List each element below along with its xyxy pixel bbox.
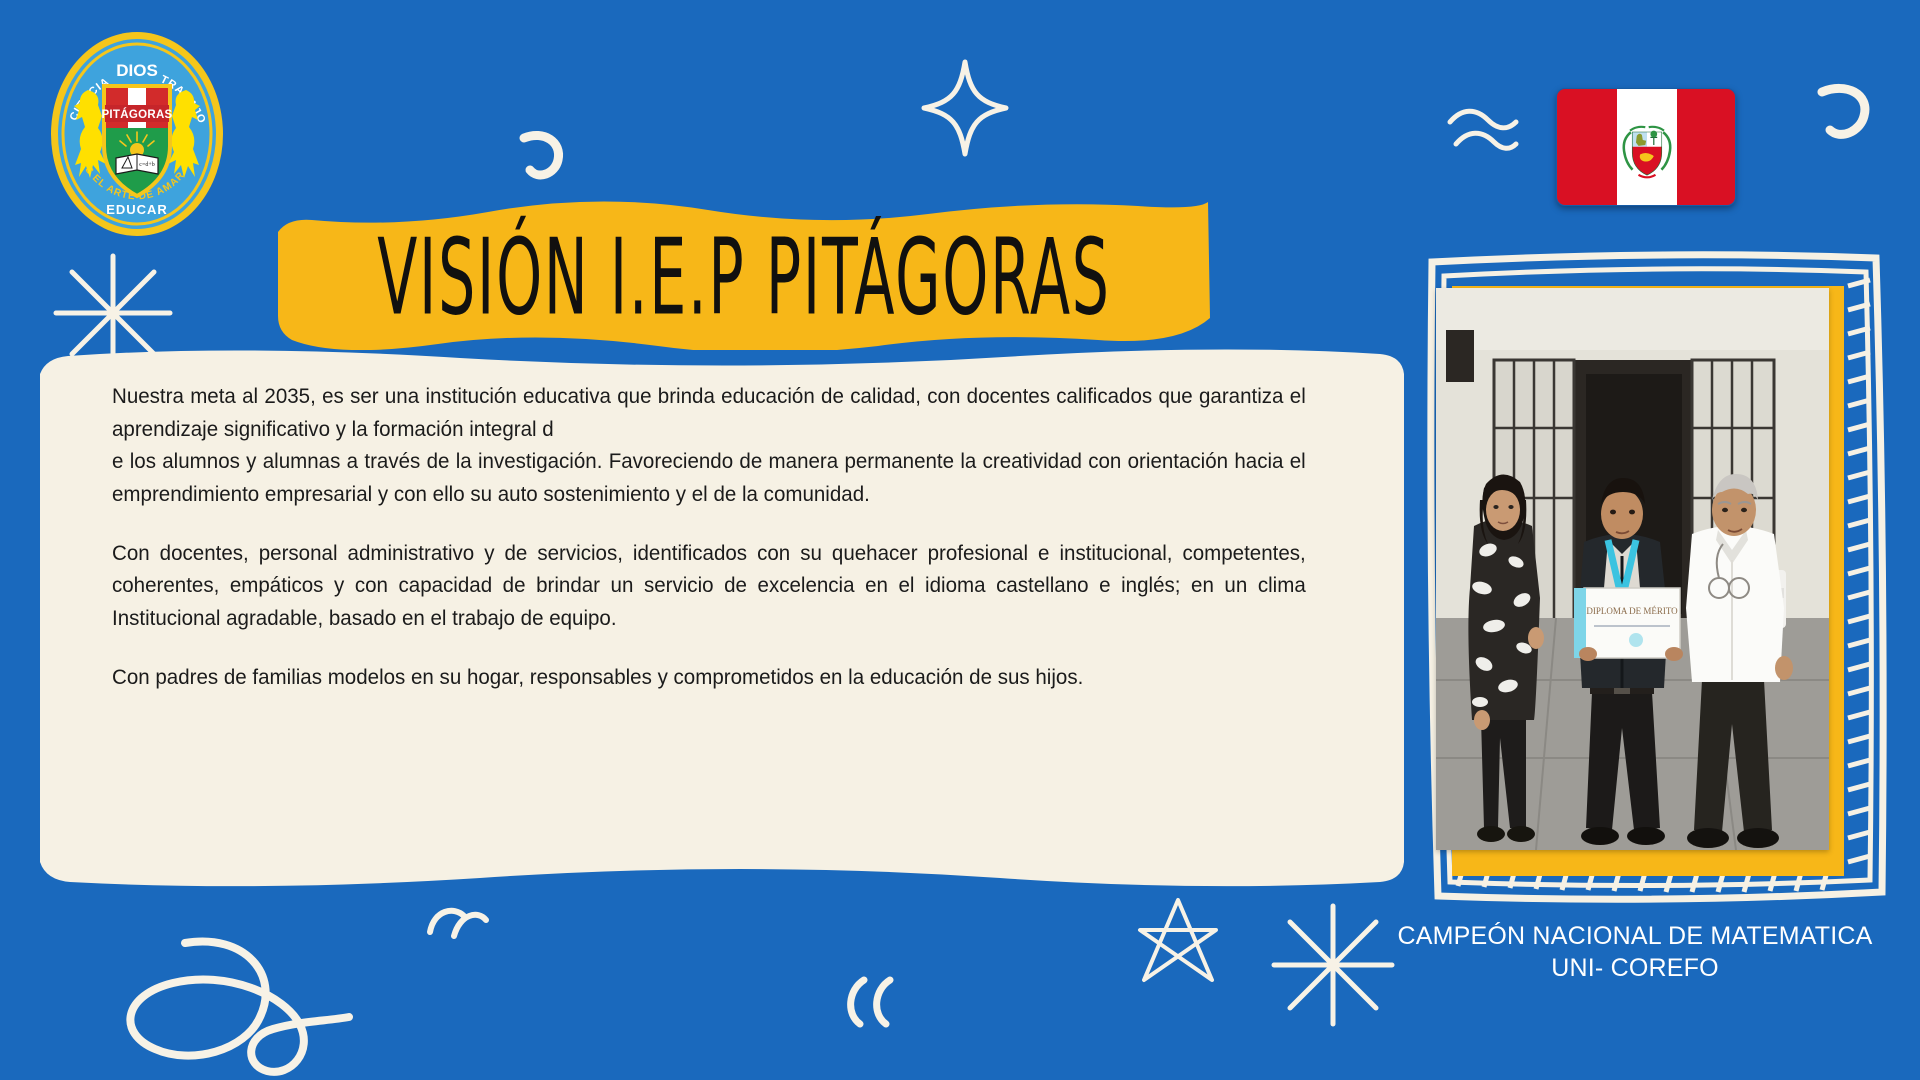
outline-star-icon bbox=[1130, 892, 1226, 988]
svg-text:DIPLOMA DE MÉRITO: DIPLOMA DE MÉRITO bbox=[1586, 606, 1678, 616]
paragraph-4: Con padres de familias modelos en su hog… bbox=[112, 661, 1306, 694]
page-title: VISIÓN I.E.P PITÁGORAS bbox=[334, 224, 1154, 334]
sparkle-four-point-icon bbox=[920, 58, 1010, 158]
wave-tilde-icon bbox=[1442, 100, 1522, 170]
paragraph-1: Nuestra meta al 2035, es ser una institu… bbox=[112, 380, 1306, 445]
vision-title-banner: VISIÓN I.E.P PITÁGORAS bbox=[278, 200, 1210, 350]
photo-frame: DIPLOMA DE MÉRITO bbox=[1424, 248, 1894, 908]
caption-line-2: UNI- COREFO bbox=[1355, 952, 1915, 984]
svg-text:PITÁGORAS: PITÁGORAS bbox=[101, 108, 172, 121]
svg-text:c=d+b: c=d+b bbox=[139, 162, 154, 168]
double-comma-icon bbox=[838, 968, 908, 1040]
paragraph-3: Con docentes, personal administrativo y … bbox=[112, 537, 1306, 635]
caption-line-1: CAMPEÓN NACIONAL DE MATEMATICA bbox=[1355, 920, 1915, 952]
slide-canvas: CIENCIA TRABAJO ES EL ARTE DE AMAR DIOS bbox=[0, 0, 1920, 1080]
vision-paragraphs: Nuestra meta al 2035, es ser una institu… bbox=[112, 380, 1362, 693]
svg-text:DIOS: DIOS bbox=[116, 61, 158, 80]
school-crest-logo: CIENCIA TRABAJO ES EL ARTE DE AMAR DIOS bbox=[48, 28, 226, 240]
paragraph-2: e los alumnos y alumnas a través de la i… bbox=[112, 445, 1306, 510]
svg-text:EDUCAR: EDUCAR bbox=[106, 202, 168, 217]
peru-flag bbox=[1556, 88, 1736, 206]
quote-mark-icon bbox=[420, 898, 490, 960]
vision-text-panel: Nuestra meta al 2035, es ser una institu… bbox=[40, 348, 1404, 888]
comma-swirl-icon bbox=[1812, 78, 1882, 154]
quote-swirl-icon bbox=[508, 122, 578, 192]
photo-caption: CAMPEÓN NACIONAL DE MATEMATICA UNI- CORE… bbox=[1355, 920, 1915, 984]
award-ceremony-photo: DIPLOMA DE MÉRITO bbox=[1436, 288, 1829, 850]
loop-scribble-icon bbox=[95, 925, 415, 1080]
